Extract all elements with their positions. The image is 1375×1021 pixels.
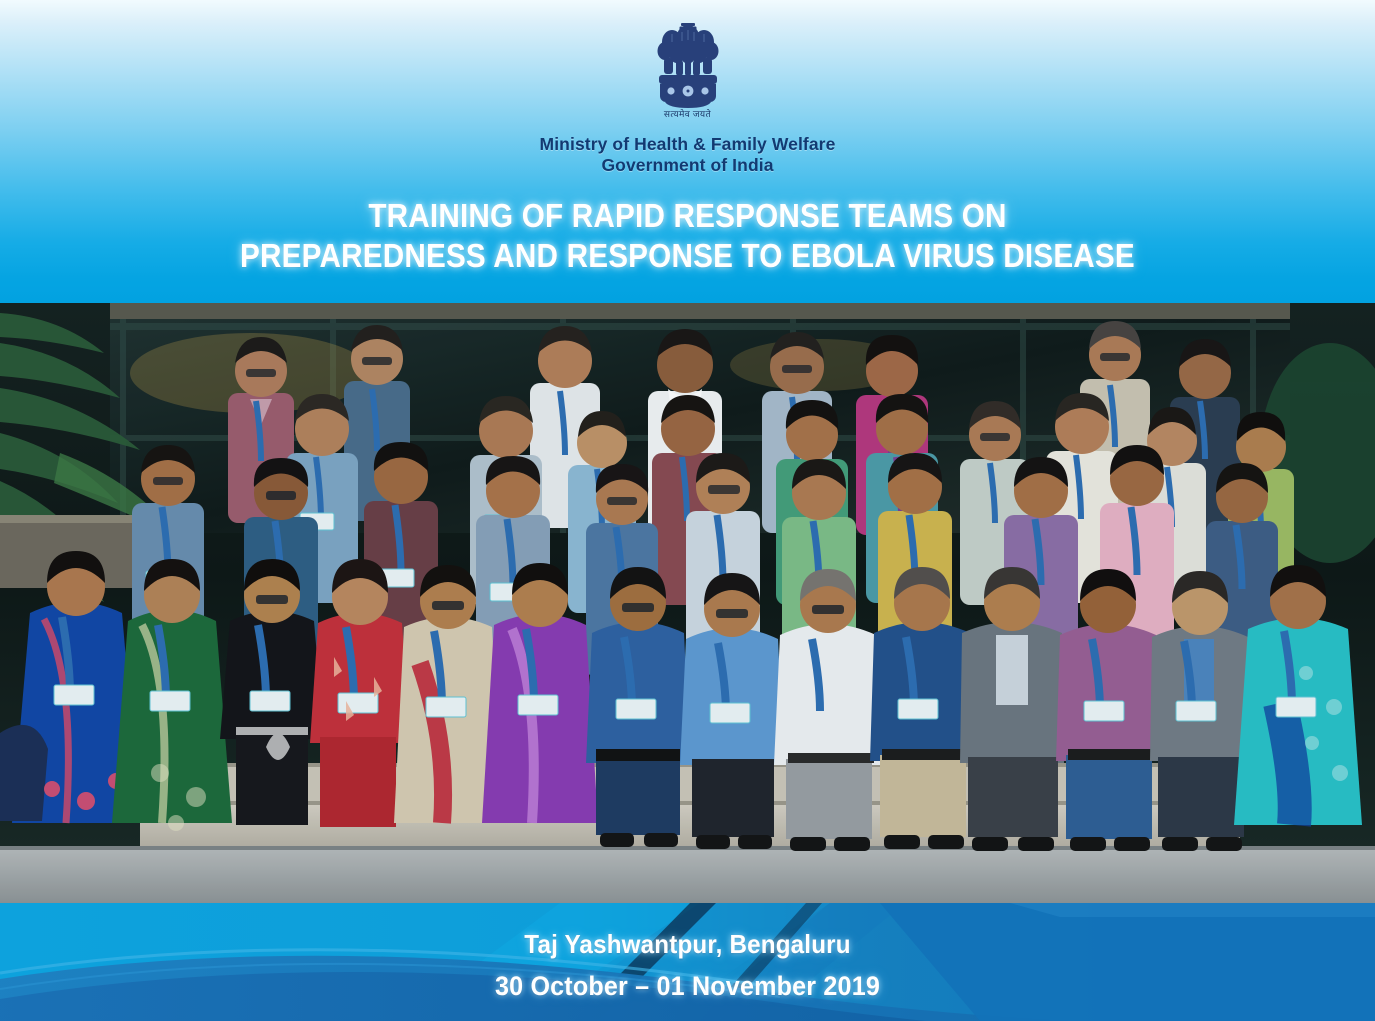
group-photo-illustration — [0, 303, 1375, 903]
event-poster: सत्यमेव जयते Ministry of Health & Family… — [0, 0, 1375, 1021]
title-line-2: PREPAREDNESS AND RESPONSE TO EBOLA VIRUS… — [69, 236, 1307, 276]
emblem-motto: सत्यमेव जयते — [664, 110, 711, 119]
emblem-block: सत्यमेव जयते — [0, 20, 1375, 119]
group-photograph — [0, 303, 1375, 903]
event-venue-and-dates: Taj Yashwantpur, Bengaluru 30 October – … — [48, 923, 1327, 1009]
page-title: TRAINING OF RAPID RESPONSE TEAMS ON PREP… — [69, 196, 1307, 275]
government-line: Government of India — [0, 155, 1375, 176]
poster-header: सत्यमेव जयते Ministry of Health & Family… — [0, 0, 1375, 303]
ashoka-lion-capital-emblem — [651, 20, 725, 116]
event-venue: Taj Yashwantpur, Bengaluru — [48, 923, 1327, 965]
ministry-line: Ministry of Health & Family Welfare — [0, 134, 1375, 155]
event-dates: 30 October – 01 November 2019 — [48, 965, 1327, 1009]
organisation-name: Ministry of Health & Family Welfare Gove… — [0, 134, 1375, 177]
title-line-1: TRAINING OF RAPID RESPONSE TEAMS ON — [69, 196, 1307, 236]
poster-footer: Taj Yashwantpur, Bengaluru 30 October – … — [0, 903, 1375, 1021]
